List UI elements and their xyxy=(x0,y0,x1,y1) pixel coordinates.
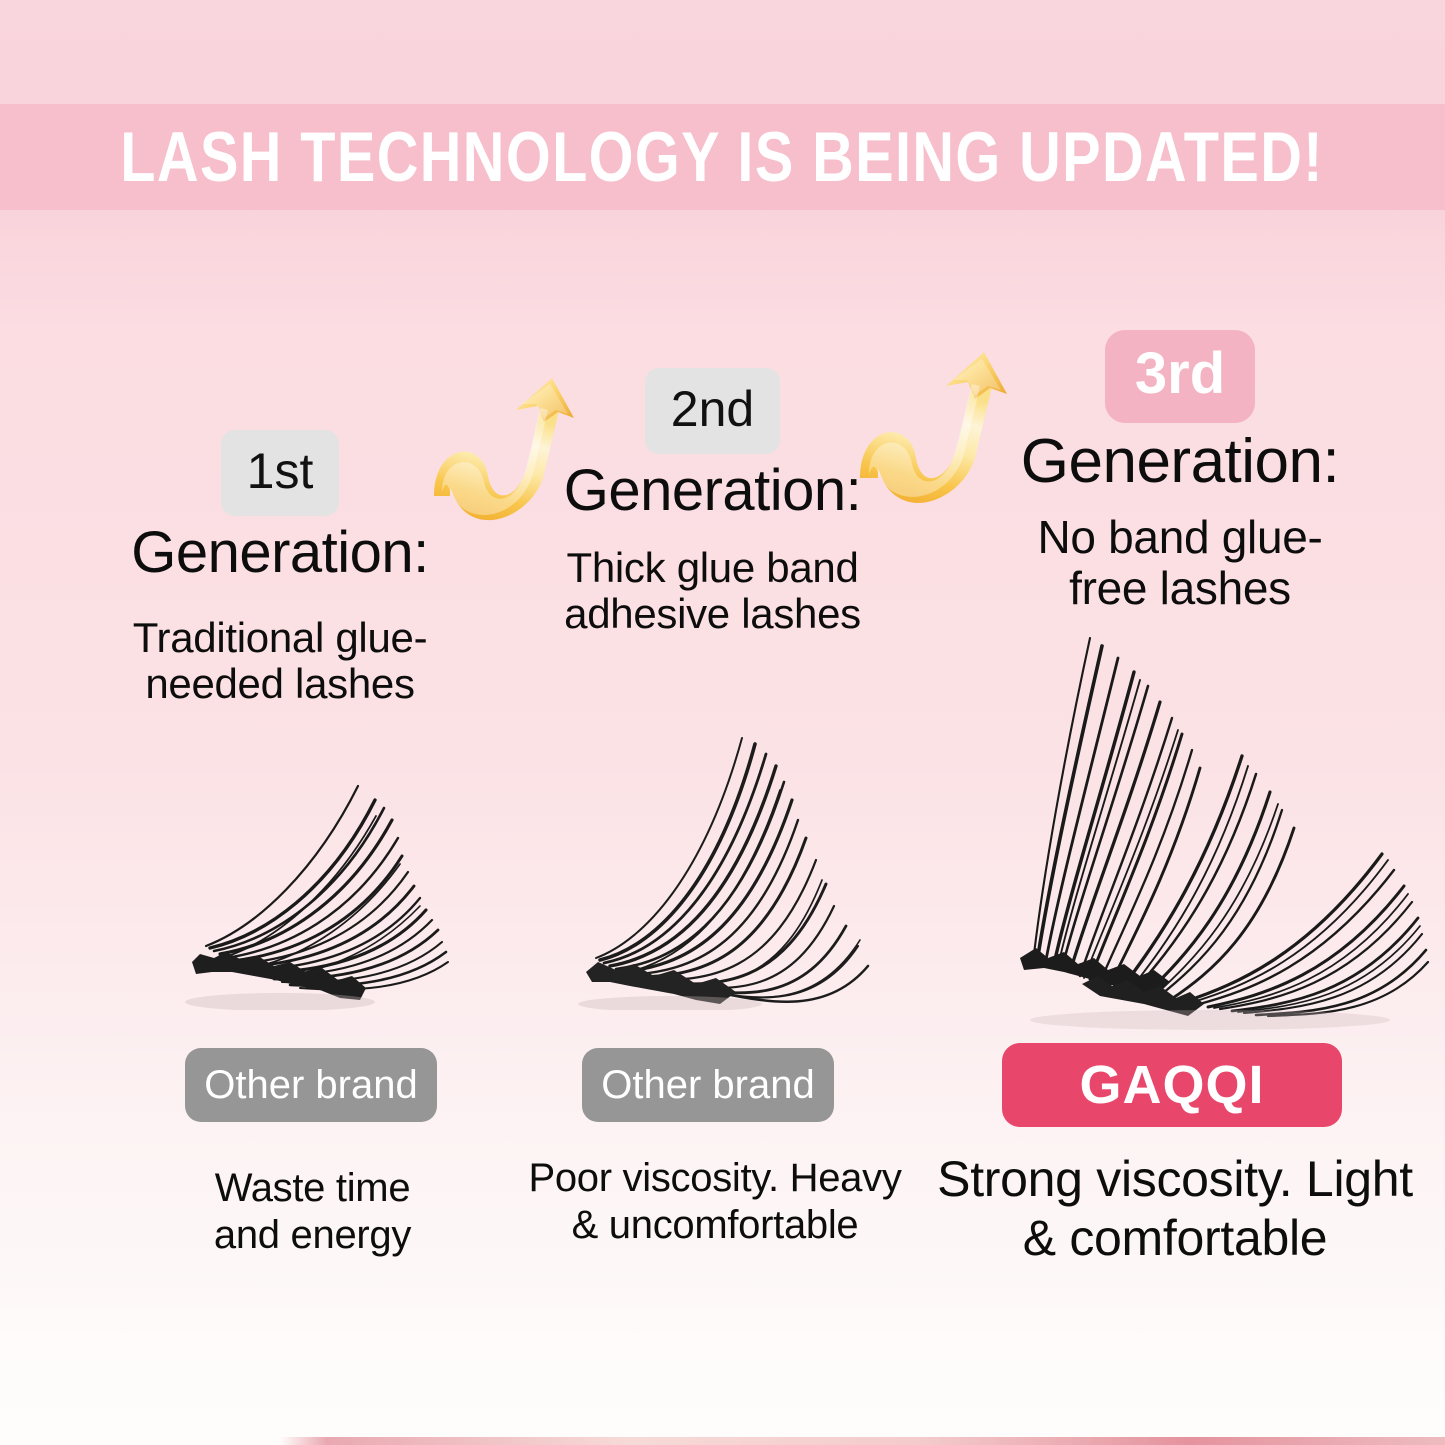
generation-description-3-line2: free lashes xyxy=(975,563,1385,614)
brand-badge-other-2: Other brand xyxy=(582,1048,834,1122)
brand-badge-gaqqi: GAQQI xyxy=(1002,1043,1342,1127)
caption-column-3: Strong viscosity. Light & comfortable xyxy=(935,1150,1415,1268)
generation-description-1: Traditional glue- needed lashes xyxy=(100,615,460,707)
page-title: LASH TECHNOLOGY IS BEING UPDATED! xyxy=(121,117,1325,198)
generation-column-2: 2nd Generation: Thick glue band adhesive… xyxy=(545,368,880,637)
brand-badge-other-1: Other brand xyxy=(185,1048,437,1122)
generation-description-2: Thick glue band adhesive lashes xyxy=(545,545,880,637)
generation-label-2: Generation: xyxy=(545,460,880,523)
caption-column-2-line2: & uncomfortable xyxy=(520,1202,910,1249)
lash-cluster-medium-icon xyxy=(570,720,880,1010)
caption-column-3-line1: Strong viscosity. Light xyxy=(935,1150,1415,1209)
generation-badge-2: 2nd xyxy=(645,368,780,454)
bottom-edge-sliver xyxy=(280,1437,1445,1445)
generation-description-2-line1: Thick glue band xyxy=(545,545,880,591)
generation-description-2-line2: adhesive lashes xyxy=(545,591,880,637)
lash-comparison-poster: LASH TECHNOLOGY IS BEING UPDATED! xyxy=(0,0,1445,1445)
generation-badge-3: 3rd xyxy=(1105,330,1255,423)
caption-column-1: Waste time and energy xyxy=(140,1165,485,1259)
generation-label-1: Generation: xyxy=(100,522,460,585)
generation-column-1: 1st Generation: Traditional glue- needed… xyxy=(100,430,460,707)
caption-column-2-line1: Poor viscosity. Heavy xyxy=(520,1155,910,1202)
generation-badge-1: 1st xyxy=(221,430,340,516)
generation-label-3: Generation: xyxy=(975,429,1385,496)
lash-cluster-small-icon xyxy=(170,730,460,1010)
generation-description-3-line1: No band glue- xyxy=(975,512,1385,563)
generation-description-3: No band glue- free lashes xyxy=(975,512,1385,613)
caption-column-3-line2: & comfortable xyxy=(935,1209,1415,1268)
generation-description-1-line1: Traditional glue- xyxy=(100,615,460,661)
generation-column-3: 3rd Generation: No band glue- free lashe… xyxy=(975,330,1385,613)
caption-column-1-line2: and energy xyxy=(140,1212,485,1259)
caption-column-1-line1: Waste time xyxy=(140,1165,485,1212)
caption-column-2: Poor viscosity. Heavy & uncomfortable xyxy=(520,1155,910,1249)
lash-cluster-large-icon xyxy=(990,610,1430,1030)
generation-description-1-line2: needed lashes xyxy=(100,661,460,707)
title-banner: LASH TECHNOLOGY IS BEING UPDATED! xyxy=(0,104,1445,210)
